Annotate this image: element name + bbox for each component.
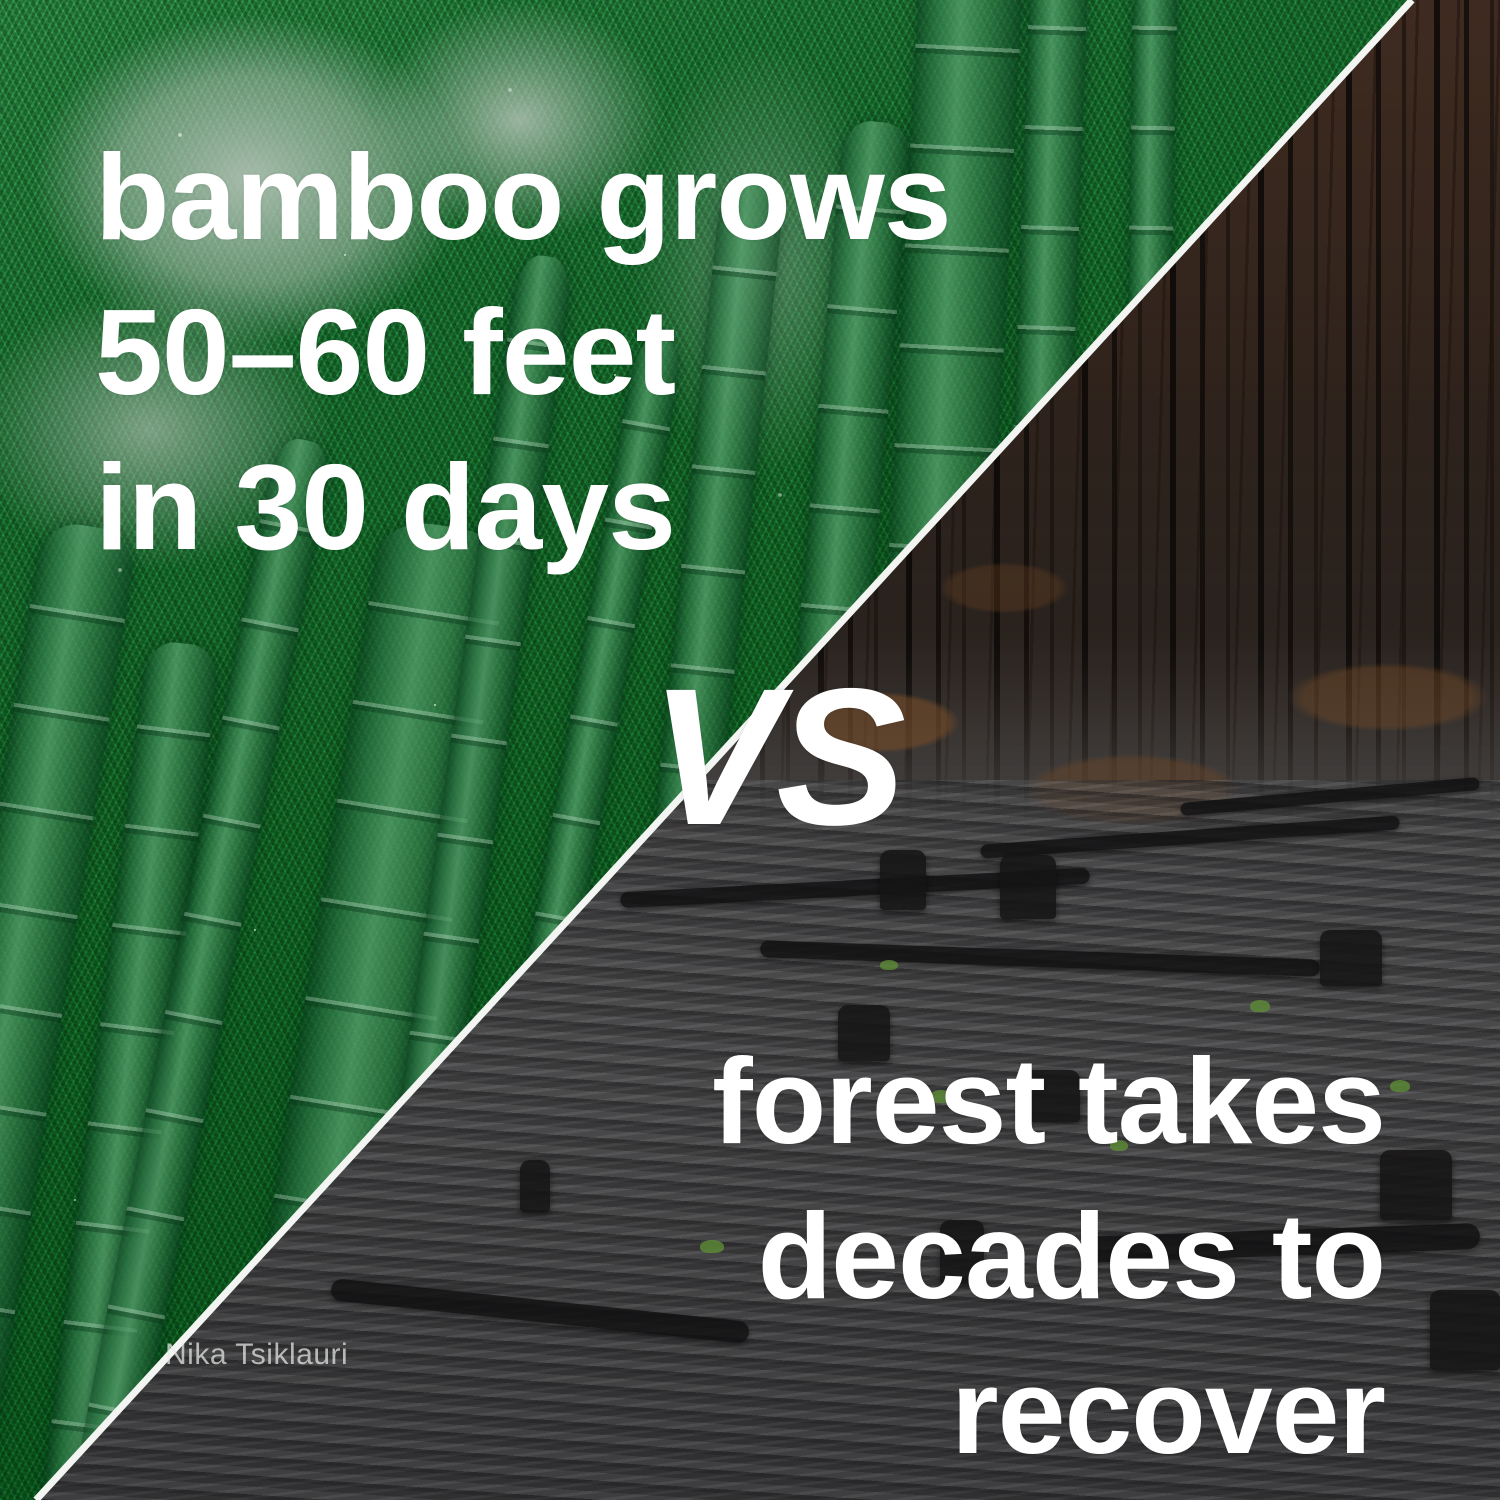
tagline-forest: forest takes decades to recover — [712, 1040, 1385, 1500]
comparison-graphic: bamboo grows 50–60 feet in 30 days VS fo… — [0, 0, 1500, 1500]
tagline-line-3: recover — [712, 1350, 1385, 1472]
versus-label: VS — [650, 660, 902, 855]
photo-credit-watermark: Nika Tsiklauri — [165, 1338, 348, 1372]
headline-line-1: bamboo grows — [95, 136, 951, 258]
headline-line-3: in 30 days — [95, 446, 951, 568]
headline-line-2: 50–60 feet — [95, 291, 951, 413]
tagline-line-1: forest takes — [712, 1040, 1385, 1162]
tagline-line-2: decades to — [712, 1195, 1385, 1317]
headline-bamboo: bamboo grows 50–60 feet in 30 days — [95, 136, 951, 601]
